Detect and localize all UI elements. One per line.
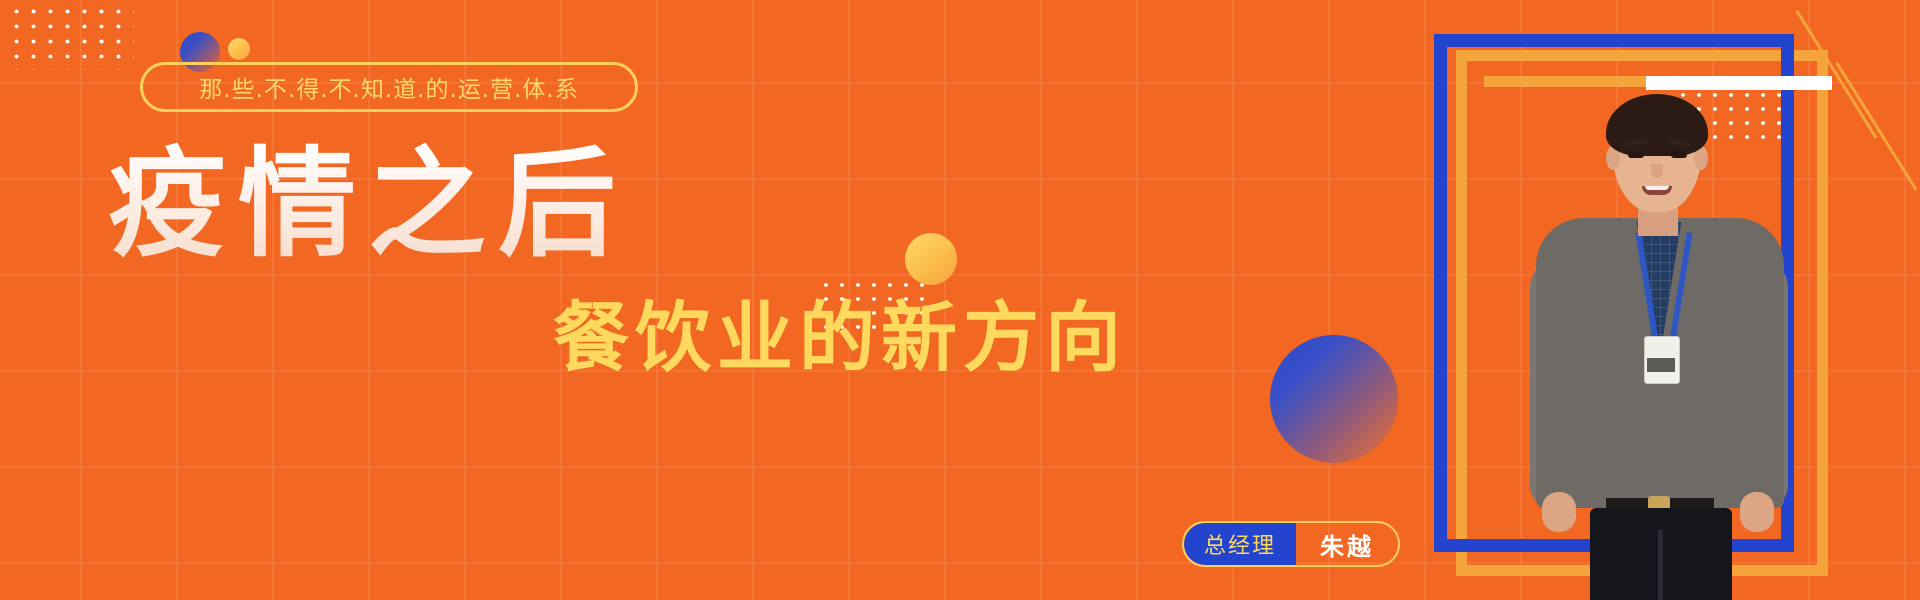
portrait-nose — [1651, 164, 1663, 178]
portrait-teeth — [1645, 186, 1669, 190]
speaker-name-label: 朱越 — [1296, 523, 1398, 565]
speaker-portrait — [1494, 68, 1824, 600]
speaker-badge: 总经理 朱越 — [1182, 521, 1400, 567]
sphere-blue-large-icon — [1270, 335, 1398, 463]
sphere-yellow-medium-icon — [905, 233, 957, 285]
sphere-yellow-small-icon — [228, 38, 250, 60]
photo-frame-inner-orange-bar — [1484, 76, 1646, 87]
dot-grid-icon-topleft — [8, 4, 134, 70]
headline-secondary: 餐饮业的新方向 — [553, 296, 1127, 380]
headline-primary: 疫情之后 — [108, 140, 628, 270]
portrait-hand-left — [1542, 492, 1576, 532]
speaker-photo-block — [1434, 28, 1854, 600]
portrait-hair — [1606, 94, 1708, 156]
portrait-eye-left — [1628, 152, 1644, 158]
portrait-id-badge-strip — [1647, 358, 1675, 372]
portrait-trouser-seam — [1658, 530, 1663, 600]
photo-frame-white-bar — [1646, 76, 1832, 90]
portrait-hand-right — [1740, 492, 1774, 532]
speaker-role-label: 总经理 — [1184, 523, 1296, 565]
promo-banner: 那.些.不.得.不.知.道.的.运.营.体.系 疫情之后 餐饮业的新方向 总经理… — [0, 0, 1920, 600]
portrait-eye-right — [1671, 152, 1687, 158]
subtitle-text: 那.些.不.得.不.知.道.的.运.营.体.系 — [199, 70, 578, 104]
subtitle-pill: 那.些.不.得.不.知.道.的.运.营.体.系 — [140, 62, 638, 112]
